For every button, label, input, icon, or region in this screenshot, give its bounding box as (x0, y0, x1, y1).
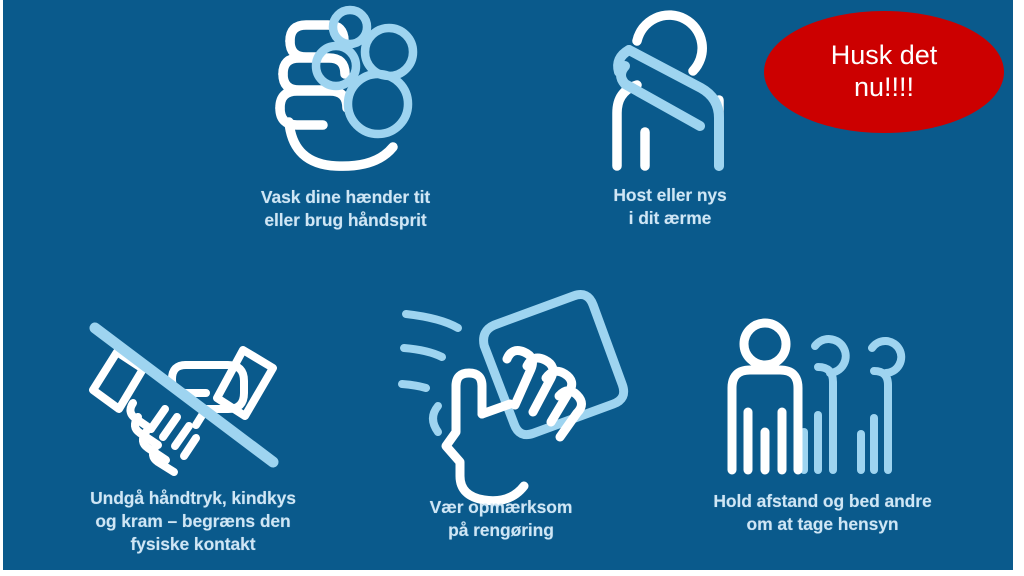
cleaning-cloth-icon (394, 296, 609, 486)
keep-distance-people-icon (720, 318, 925, 478)
tile-no-handshake: Undgå håndtryk, kindkys og kram – begræn… (23, 320, 363, 556)
tile-keep-distance: Hold afstand og bed andre om at tage hen… (665, 318, 980, 536)
no-handshake-icon (83, 320, 303, 475)
tile-cough-sleeve: Host eller nys i dit ærme (575, 4, 765, 230)
cough-into-sleeve-icon (595, 4, 745, 172)
callout-text: Husk det nu!!!! (831, 40, 938, 104)
slide-canvas: Vask dine hænder tit eller brug håndspri… (3, 0, 1013, 570)
tile-caption: Undgå håndtryk, kindkys og kram – begræn… (90, 487, 296, 556)
tile-caption: Vask dine hænder tit eller brug håndspri… (261, 186, 430, 232)
callout-ellipse[interactable]: Husk det nu!!!! (764, 11, 1004, 133)
tile-cleaning: Vær opmærksom på rengøring (381, 296, 621, 542)
tile-caption: Vær opmærksom på rengøring (430, 496, 573, 542)
tile-wash-hands: Vask dine hænder tit eller brug håndspri… (228, 4, 463, 232)
tile-caption: Hold afstand og bed andre om at tage hen… (713, 490, 931, 536)
slide-root: Vask dine hænder tit eller brug håndspri… (0, 0, 1024, 576)
tile-caption: Host eller nys i dit ærme (613, 184, 726, 230)
washing-hands-icon (258, 4, 433, 172)
